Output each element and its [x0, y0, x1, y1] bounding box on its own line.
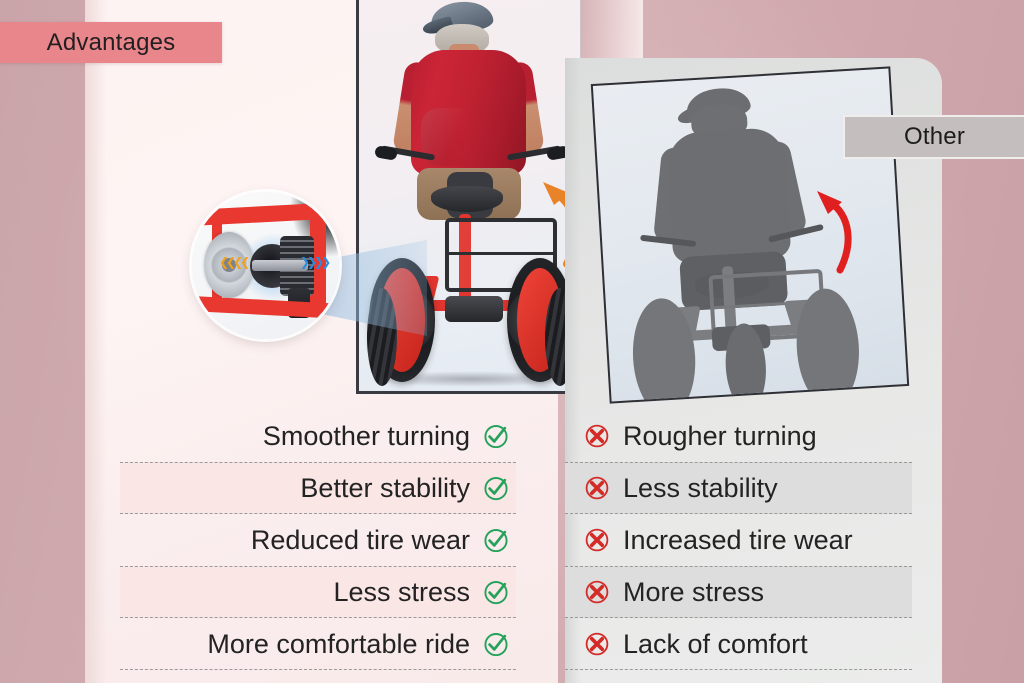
x-circle-red-icon [583, 578, 611, 606]
x-circle-red-icon [583, 422, 611, 450]
check-circle-green-icon [482, 526, 510, 554]
list-item-label: Less stress [333, 579, 470, 606]
list-item-label: Reduced tire wear [251, 527, 470, 554]
differential-detail-inset: ❮❮❮❮ ❯❯❯❯ [192, 192, 339, 339]
advantages-list: Smoother turningBetter stabilityReduced … [120, 410, 516, 670]
list-item-label: Smoother turning [263, 423, 470, 450]
list-item: Less stability [565, 462, 912, 514]
ground-shadow [367, 371, 575, 387]
inset-arrow-chevrons-orange: ❮❮❮❮ [219, 256, 247, 268]
check-circle-green-icon [482, 578, 510, 606]
list-item: Reduced tire wear [120, 514, 516, 566]
list-item: More comfortable ride [120, 618, 516, 670]
list-item: Rougher turning [565, 410, 912, 462]
x-circle-red-icon [583, 474, 611, 502]
list-item-label: More stress [623, 579, 764, 606]
list-item-label: Increased tire wear [623, 527, 853, 554]
check-circle-green-icon [482, 422, 510, 450]
other-list: Rougher turningLess stabilityIncreased t… [565, 410, 912, 670]
advantages-banner: Advantages [0, 22, 222, 63]
x-circle-red-icon [583, 526, 611, 554]
list-item-label: Rougher turning [623, 423, 817, 450]
check-circle-green-icon [482, 630, 510, 658]
other-banner-label: Other [904, 123, 965, 151]
list-item-label: Less stability [623, 475, 778, 502]
list-item: More stress [565, 566, 912, 618]
tricycle-seat [431, 186, 503, 212]
list-item: Less stress [120, 566, 516, 618]
curved-arrow-up-left-red-icon [812, 186, 868, 274]
other-banner: Other [843, 115, 1024, 159]
list-item-label: Better stability [300, 475, 470, 502]
x-circle-red-icon [583, 630, 611, 658]
tricycle-motor [445, 296, 503, 322]
list-item: Better stability [120, 462, 516, 514]
list-item-label: Lack of comfort [623, 631, 808, 658]
list-item: Lack of comfort [565, 618, 912, 670]
silhouette-wheel-right [793, 287, 862, 404]
list-item: Smoother turning [120, 410, 516, 462]
list-item-label: More comfortable ride [207, 631, 470, 658]
inset-arrow-chevrons-blue: ❯❯❯❯ [300, 256, 328, 268]
list-item: Increased tire wear [565, 514, 912, 566]
advantages-banner-label: Advantages [47, 29, 176, 57]
check-circle-green-icon [482, 474, 510, 502]
